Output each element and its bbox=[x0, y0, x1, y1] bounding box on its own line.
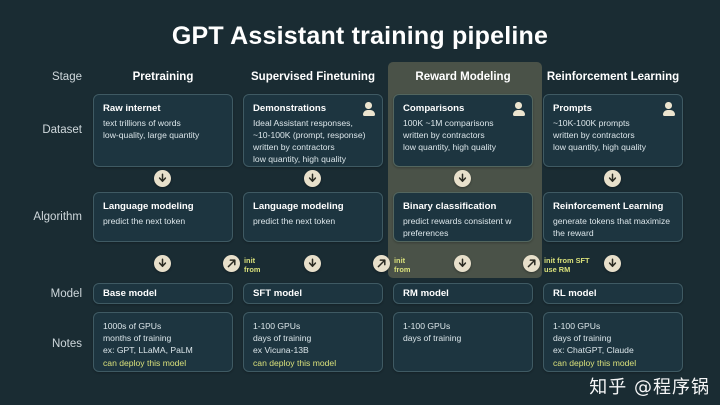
init-from-label-rl: init from SFT use RM bbox=[544, 256, 590, 275]
init-from-label-sft: init from bbox=[244, 256, 260, 275]
arrow-down-icon bbox=[154, 255, 171, 272]
stage-header-reward-modeling[interactable]: Reward Modeling bbox=[388, 71, 538, 83]
card-line: generate tokens that maximize bbox=[553, 215, 673, 227]
arrow-down-icon bbox=[154, 170, 171, 187]
card-line: ex Vicuna-13B bbox=[253, 344, 373, 356]
stage-header-reinforcement-learning[interactable]: Reinforcement Learning bbox=[538, 71, 688, 83]
algorithm-card-supervised-finetuning[interactable]: Language modeling predict the next token bbox=[243, 192, 383, 242]
arrow-up-right-icon bbox=[223, 255, 240, 272]
model-card-rm-model[interactable]: RM model bbox=[393, 283, 533, 304]
card-line: ex: ChatGPT, Claude bbox=[553, 344, 673, 356]
algorithm-card-reinforcement-learning[interactable]: Reinforcement Learning generate tokens t… bbox=[543, 192, 683, 242]
algorithm-card-reward-modeling[interactable]: Binary classification predict rewards co… bbox=[393, 192, 533, 242]
card-title: SFT model bbox=[253, 287, 302, 301]
card-line: days of training bbox=[253, 332, 373, 344]
person-icon bbox=[362, 102, 375, 116]
deploy-note: can deploy this model bbox=[553, 357, 673, 369]
card-line: ~10K-100K prompts bbox=[553, 117, 673, 129]
row-label-algorithm: Algorithm bbox=[0, 211, 82, 223]
card-line: low quantity, high quality bbox=[553, 141, 673, 153]
card-line: ex: GPT, LLaMA, PaLM bbox=[103, 344, 223, 356]
card-line: days of training bbox=[403, 332, 523, 344]
card-line: 100K ~1M comparisons bbox=[403, 117, 523, 129]
arrow-down-icon bbox=[304, 170, 321, 187]
row-label-model: Model bbox=[0, 288, 82, 300]
card-line: preferences bbox=[403, 227, 523, 239]
init-from-label-rm: init from bbox=[394, 256, 410, 275]
arrow-down-icon bbox=[454, 255, 471, 272]
card-line: months of training bbox=[103, 332, 223, 344]
notes-card-reward-modeling[interactable]: 1-100 GPUs days of training bbox=[393, 312, 533, 372]
algorithm-card-pretraining[interactable]: Language modeling predict the next token bbox=[93, 192, 233, 242]
card-line: days of training bbox=[553, 332, 673, 344]
card-title: RL model bbox=[553, 287, 597, 301]
card-title: Language modeling bbox=[103, 200, 223, 214]
arrow-up-right-icon bbox=[523, 255, 540, 272]
page-title: GPT Assistant training pipeline bbox=[0, 22, 720, 51]
card-line: Ideal Assistant responses, bbox=[253, 117, 373, 129]
card-line: low quantity, high quality bbox=[403, 141, 523, 153]
card-title: Prompts bbox=[553, 102, 673, 116]
card-title: Comparisons bbox=[403, 102, 523, 116]
dataset-card-supervised-finetuning[interactable]: Demonstrations Ideal Assistant responses… bbox=[243, 94, 383, 167]
stage-header-supervised-finetuning[interactable]: Supervised Finetuning bbox=[238, 71, 388, 83]
card-line: low-quality, large quantity bbox=[103, 129, 223, 141]
card-line: 1-100 GPUs bbox=[403, 320, 523, 332]
person-icon bbox=[662, 102, 675, 116]
card-title: Language modeling bbox=[253, 200, 373, 214]
card-line: written by contractors bbox=[553, 129, 673, 141]
dataset-card-reinforcement-learning[interactable]: Prompts ~10K-100K prompts written by con… bbox=[543, 94, 683, 167]
card-title: Binary classification bbox=[403, 200, 523, 214]
card-line: written by contractors bbox=[253, 141, 373, 153]
card-line: text trillions of words bbox=[103, 117, 223, 129]
card-line: predict the next token bbox=[103, 215, 223, 227]
card-line: 1000s of GPUs bbox=[103, 320, 223, 332]
model-card-sft-model[interactable]: SFT model bbox=[243, 283, 383, 304]
notes-card-reinforcement-learning[interactable]: 1-100 GPUs days of training ex: ChatGPT,… bbox=[543, 312, 683, 372]
notes-card-supervised-finetuning[interactable]: 1-100 GPUs days of training ex Vicuna-13… bbox=[243, 312, 383, 372]
card-line: predict rewards consistent w bbox=[403, 215, 523, 227]
dataset-card-pretraining[interactable]: Raw internet text trillions of words low… bbox=[93, 94, 233, 167]
deploy-note: can deploy this model bbox=[253, 357, 373, 369]
row-label-dataset: Dataset bbox=[0, 124, 82, 136]
diagram-canvas: GPT Assistant training pipeline Stage Da… bbox=[0, 0, 720, 405]
card-line: 1-100 GPUs bbox=[553, 320, 673, 332]
model-card-base-model[interactable]: Base model bbox=[93, 283, 233, 304]
model-card-rl-model[interactable]: RL model bbox=[543, 283, 683, 304]
arrow-down-icon bbox=[604, 170, 621, 187]
stage-header-pretraining[interactable]: Pretraining bbox=[88, 71, 238, 83]
card-line: written by contractors bbox=[403, 129, 523, 141]
arrow-up-right-icon bbox=[373, 255, 390, 272]
deploy-note: can deploy this model bbox=[103, 357, 223, 369]
card-title: Raw internet bbox=[103, 102, 223, 116]
notes-card-pretraining[interactable]: 1000s of GPUs months of training ex: GPT… bbox=[93, 312, 233, 372]
arrow-down-icon bbox=[304, 255, 321, 272]
row-label-notes: Notes bbox=[0, 338, 82, 350]
row-label-stage: Stage bbox=[0, 71, 82, 83]
card-title: RM model bbox=[403, 287, 449, 301]
person-icon bbox=[512, 102, 525, 116]
card-line: low quantity, high quality bbox=[253, 153, 373, 165]
arrow-down-icon bbox=[454, 170, 471, 187]
card-line: predict the next token bbox=[253, 215, 373, 227]
card-line: 1-100 GPUs bbox=[253, 320, 373, 332]
card-title: Base model bbox=[103, 287, 157, 301]
arrow-down-icon bbox=[604, 255, 621, 272]
card-line: the reward bbox=[553, 227, 673, 239]
card-title: Demonstrations bbox=[253, 102, 373, 116]
watermark: 知乎 @程序锅 bbox=[589, 373, 710, 399]
card-title: Reinforcement Learning bbox=[553, 200, 673, 214]
dataset-card-reward-modeling[interactable]: Comparisons 100K ~1M comparisons written… bbox=[393, 94, 533, 167]
card-line: ~10-100K (prompt, response) bbox=[253, 129, 373, 141]
